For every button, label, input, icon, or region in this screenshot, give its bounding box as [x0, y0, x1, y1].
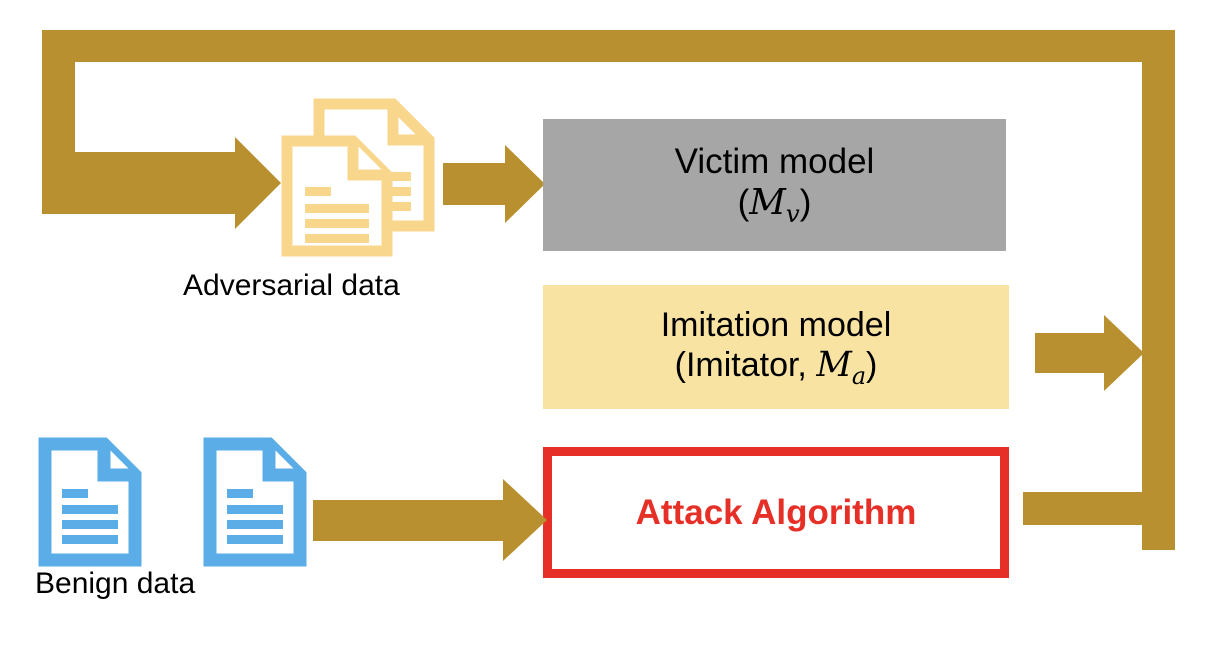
- loop-arrow-head-to-adversarial: [235, 137, 281, 229]
- imitation-model-subscript: a: [852, 361, 866, 389]
- attack-algorithm-box[interactable]: Attack Algorithm: [543, 447, 1009, 578]
- victim-model-title: Victim model: [675, 141, 875, 182]
- loop-edge-top: [42, 30, 1175, 62]
- arrow-head-benign-to-attack: [503, 479, 547, 561]
- imitation-model-title: Imitation model: [661, 305, 892, 345]
- victim-model-subscript: v: [786, 199, 800, 228]
- arrow-shaft-adversarial-to-victim: [443, 163, 505, 205]
- arrow-shaft-imitation-to-loop: [1035, 333, 1104, 373]
- benign-document-icon-2: [203, 437, 307, 567]
- arrow-head-adversarial-to-victim: [505, 145, 545, 223]
- adversarial-data-label: Adversarial data: [183, 269, 400, 303]
- imitation-model-symbol: (Imitator, Ma): [661, 345, 892, 390]
- benign-document-icon-1: [38, 437, 142, 567]
- benign-data-label: Benign data: [35, 567, 195, 601]
- loop-edge-right: [1142, 30, 1175, 550]
- attack-algorithm-label: Attack Algorithm: [636, 493, 917, 533]
- victim-model-box[interactable]: Victim model (Mv): [543, 119, 1006, 251]
- imitation-model-mathcal-m: M: [816, 345, 852, 385]
- victim-model-mathcal-m: M: [749, 182, 786, 223]
- arrow-head-imitation-to-loop: [1104, 315, 1144, 391]
- loop-edge-attack-to-right: [1023, 492, 1148, 525]
- imitation-model-box[interactable]: Imitation model (Imitator, Ma): [543, 285, 1009, 409]
- loop-arrow-shaft-to-adversarial: [42, 152, 235, 214]
- documents-stack-icon-front: [281, 135, 393, 257]
- victim-model-symbol: (Mv): [675, 182, 875, 229]
- diagram-canvas: Adversarial data Victim model (Mv) Imita…: [0, 0, 1208, 650]
- arrow-shaft-benign-to-attack: [313, 500, 503, 541]
